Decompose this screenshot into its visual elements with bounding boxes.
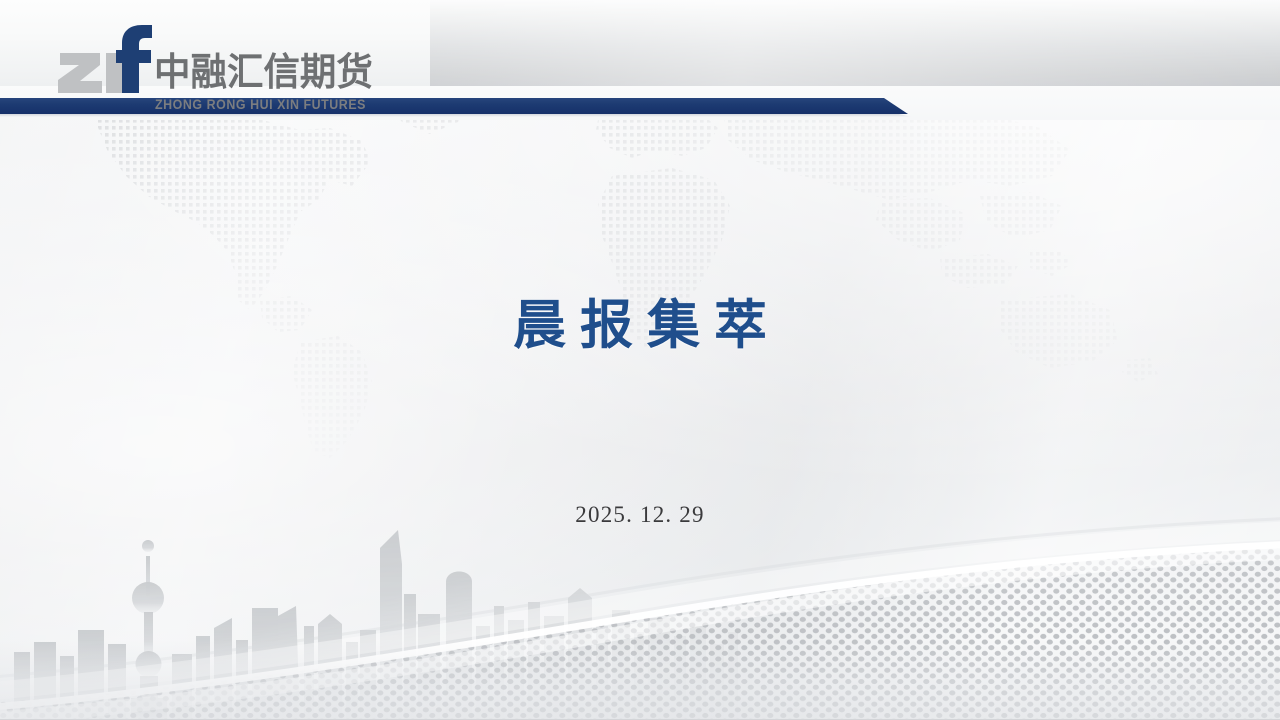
logo-company-name-en: ZHONG RONG HUI XIN FUTURES (155, 97, 366, 112)
navy-accent-bar (0, 98, 908, 114)
cover-slide: 中融汇信期货 ZHONG RONG HUI XIN FUTURES 晨报集萃 2… (0, 0, 1280, 720)
slide-title: 晨报集萃 (0, 283, 1280, 359)
logo-company-name-cn: 中融汇信期货 (154, 53, 373, 91)
company-logo: 中融汇信期货 ZHONG RONG HUI XIN FUTURES (56, 25, 386, 97)
slide-date: 2025. 12. 29 (0, 502, 1280, 528)
bottom-artwork (0, 430, 1280, 720)
zrf-logo-mark (56, 25, 156, 93)
